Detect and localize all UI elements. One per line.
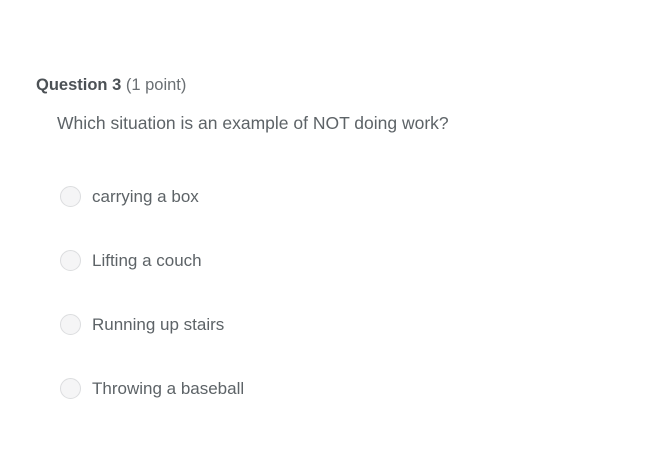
quiz-question-page: Question 3 (1 point) Which situation is … [0,0,669,461]
answer-option-label: Running up stairs [92,313,224,336]
answer-options-list: carrying a box Lifting a couch Running u… [60,185,244,400]
answer-option-row[interactable]: Throwing a baseball [60,377,244,400]
answer-option-label: Throwing a baseball [92,377,244,400]
answer-option-label: carrying a box [92,185,199,208]
answer-option-label: Lifting a couch [92,249,202,272]
radio-button-icon[interactable] [60,250,81,271]
question-prompt: Which situation is an example of NOT doi… [57,111,649,135]
radio-button-icon[interactable] [60,378,81,399]
answer-option-row[interactable]: Lifting a couch [60,249,244,272]
question-block: Question 3 (1 point) Which situation is … [36,74,649,135]
answer-option-row[interactable]: Running up stairs [60,313,244,336]
radio-button-icon[interactable] [60,314,81,335]
question-points-label: (1 point) [126,76,187,94]
question-number-label: Question 3 [36,76,121,94]
radio-button-icon[interactable] [60,186,81,207]
answer-option-row[interactable]: carrying a box [60,185,244,208]
question-header: Question 3 (1 point) [36,74,649,96]
